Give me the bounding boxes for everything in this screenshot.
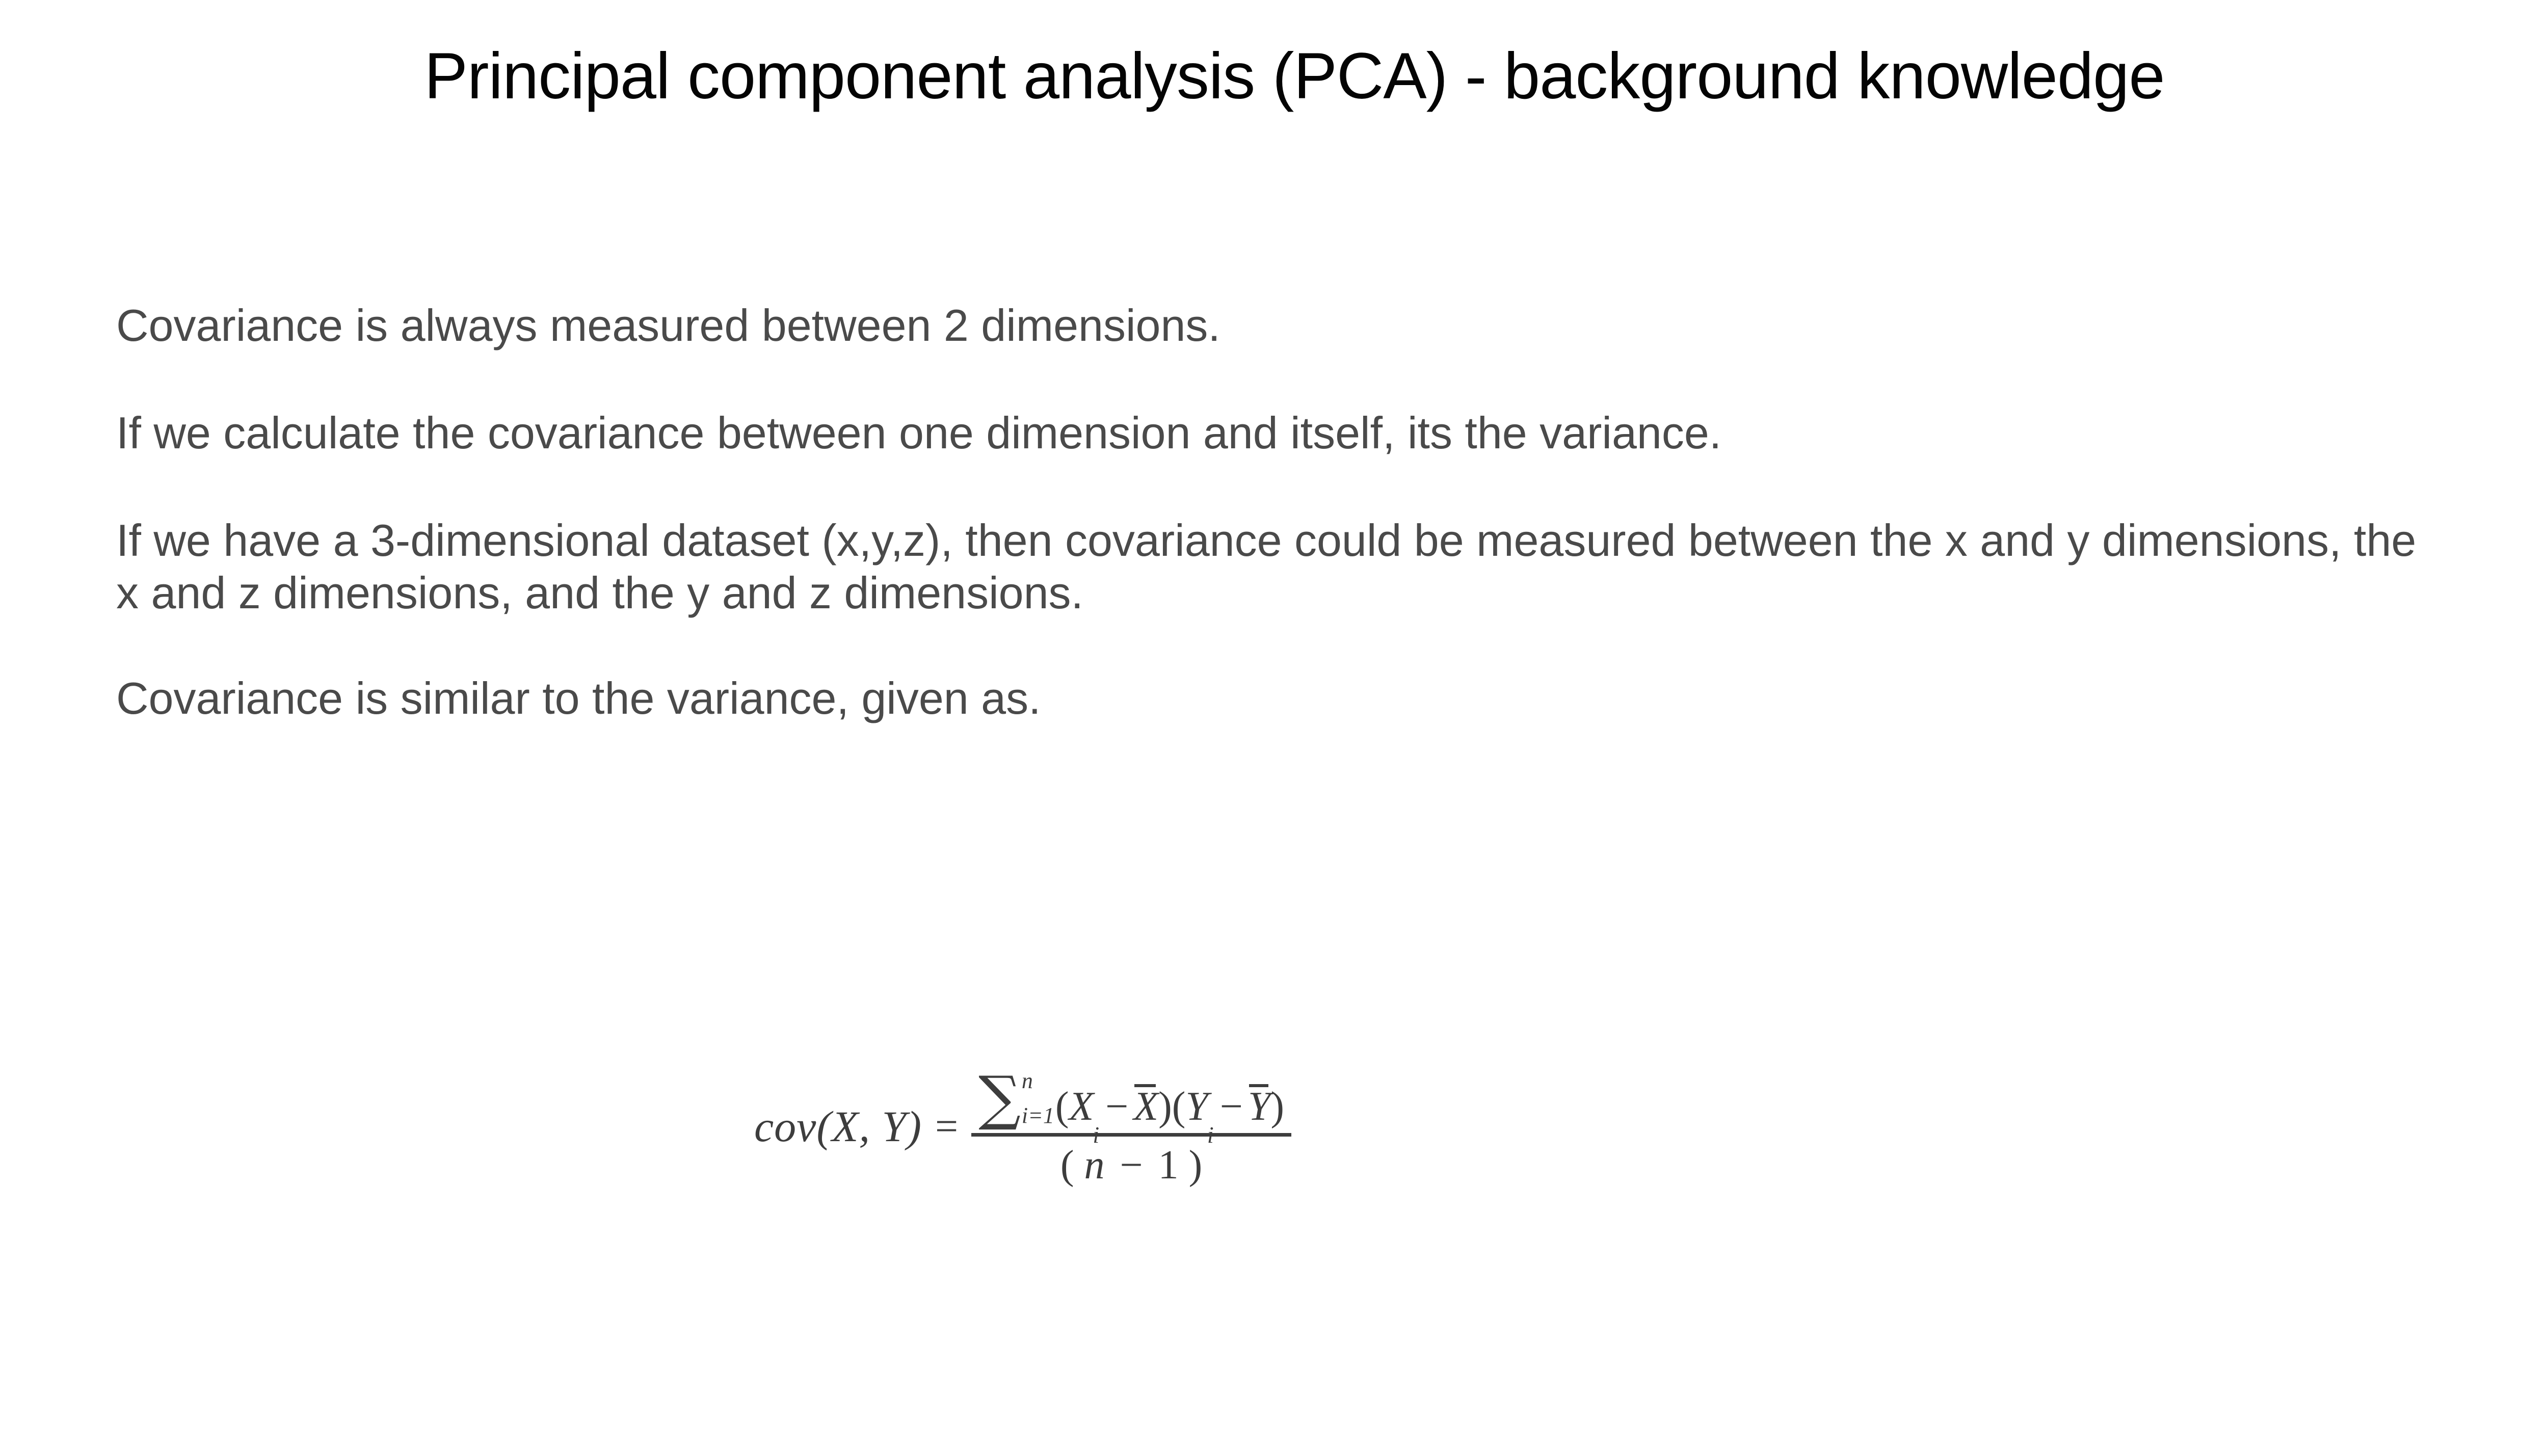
formula-fraction: ∑ n i=1 ( X i − X ) ( Y i − Y ) bbox=[971, 1070, 1291, 1185]
paragraph-covariance-similar-to-variance: Covariance is similar to the variance, g… bbox=[116, 672, 2471, 725]
covariance-formula: cov(X, Y) = ∑ n i=1 ( X i − X ) ( Y bbox=[754, 1070, 1631, 1185]
numerator-minus-2: − bbox=[1215, 1086, 1248, 1127]
denominator-minus: − bbox=[1114, 1143, 1148, 1188]
formula-numerator: ∑ n i=1 ( X i − X ) ( Y i − Y ) bbox=[971, 1070, 1291, 1133]
formula-denominator: ( n − 1 ) bbox=[1060, 1137, 1202, 1185]
slide-canvas: Principal component analysis (PCA) - bac… bbox=[0, 0, 2548, 1456]
body-content: Covariance is always measured between 2 … bbox=[116, 300, 2471, 725]
numerator-close-paren-2: ) bbox=[1270, 1086, 1284, 1127]
numerator-mean-y: Y bbox=[1248, 1086, 1271, 1127]
numerator-open-paren-1: ( bbox=[1055, 1086, 1069, 1127]
summation-limits: n i=1 bbox=[1022, 1070, 1054, 1127]
numerator-minus-1: − bbox=[1100, 1086, 1133, 1127]
fraction-bar bbox=[971, 1133, 1291, 1137]
page-title: Principal component analysis (PCA) - bac… bbox=[158, 39, 2431, 114]
numerator-mean-x: X bbox=[1133, 1086, 1158, 1127]
summation-upper-limit: n bbox=[1022, 1070, 1054, 1092]
denominator-close-paren: ) bbox=[1189, 1143, 1203, 1188]
denominator-n: n bbox=[1084, 1143, 1104, 1188]
numerator-variable-x: X bbox=[1069, 1086, 1094, 1127]
summation-operator: ∑ n i=1 bbox=[978, 1070, 1054, 1127]
numerator-open-paren-2: ( bbox=[1172, 1086, 1186, 1127]
paragraph-three-dimensional-dataset: If we have a 3-dimensional dataset (x,y,… bbox=[116, 515, 2440, 619]
sigma-icon: ∑ bbox=[978, 1073, 1021, 1124]
numerator-close-paren-1: ) bbox=[1158, 1086, 1172, 1127]
numerator-variable-y: Y bbox=[1185, 1086, 1208, 1127]
formula-left-hand-side: cov(X, Y) bbox=[754, 1104, 922, 1151]
paragraph-covariance-two-dimensions: Covariance is always measured between 2 … bbox=[116, 300, 2471, 352]
denominator-one: 1 bbox=[1158, 1143, 1179, 1188]
denominator-open-paren: ( bbox=[1060, 1143, 1074, 1188]
formula-equals-sign: = bbox=[922, 1106, 971, 1150]
summation-lower-limit: i=1 bbox=[1022, 1104, 1054, 1127]
paragraph-covariance-with-itself-is-variance: If we calculate the covariance between o… bbox=[116, 407, 2471, 460]
